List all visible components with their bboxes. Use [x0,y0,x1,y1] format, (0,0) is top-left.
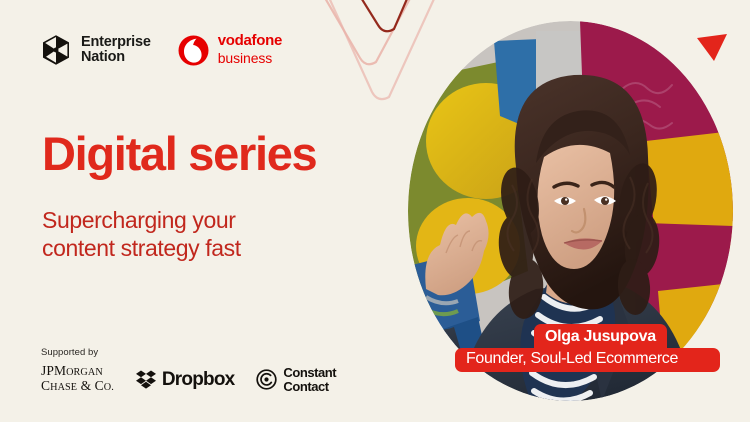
vodafone-business-logo: vodafone business [177,32,282,68]
jpm-line2: CHASE & CO. [41,380,114,395]
en-line2: Nation [81,49,125,65]
jpmorgan-wordmark: JPMORGAN CHASE & CO. [41,365,114,394]
enterprise-nation-logo: Enterprise Nation [40,34,151,66]
dropbox-logo: Dropbox [136,369,235,391]
promo-banner: Enterprise Nation vodafone business Digi… [0,0,750,422]
red-triangle-icon [695,33,729,63]
speaker-name-badge: Olga Jusupova Founder, Soul-Led Ecommerc… [455,324,720,372]
speaker-name: Olga Jusupova [534,324,667,349]
en-line1: Enterprise [81,34,151,50]
subtitle-line1: Supercharging your [42,207,236,233]
constant-contact-wordmark: Constant Contact [283,366,336,393]
supported-by-section: Supported by JPMORGAN CHASE & CO. Dropbo… [41,347,336,394]
supported-by-label: Supported by [41,347,336,358]
page-subtitle: Supercharging your content strategy fast [42,206,241,262]
enterprise-nation-wordmark: Enterprise Nation [81,35,151,66]
vodafone-speechmark-icon [177,34,210,67]
vodafone-line2: business [218,50,272,66]
dropbox-label: Dropbox [162,369,235,391]
hexagon-pinwheel-icon [40,34,72,66]
page-title: Digital series [42,128,316,180]
partner-logos: Enterprise Nation vodafone business [40,32,282,68]
cc-line2: Contact [283,379,328,394]
constant-contact-icon [256,369,277,390]
triangle-glyph [695,33,729,63]
dropbox-icon [136,370,156,389]
sponsor-logos: JPMORGAN CHASE & CO. Dropbox [41,365,336,394]
speaker-role: Founder, Soul-Led Ecommerce [455,348,720,372]
vodafone-line1: vodafone [218,32,282,49]
vodafone-wordmark: vodafone business [218,32,282,68]
subtitle-line2: content strategy fast [42,235,241,261]
constant-contact-logo: Constant Contact [256,366,336,393]
